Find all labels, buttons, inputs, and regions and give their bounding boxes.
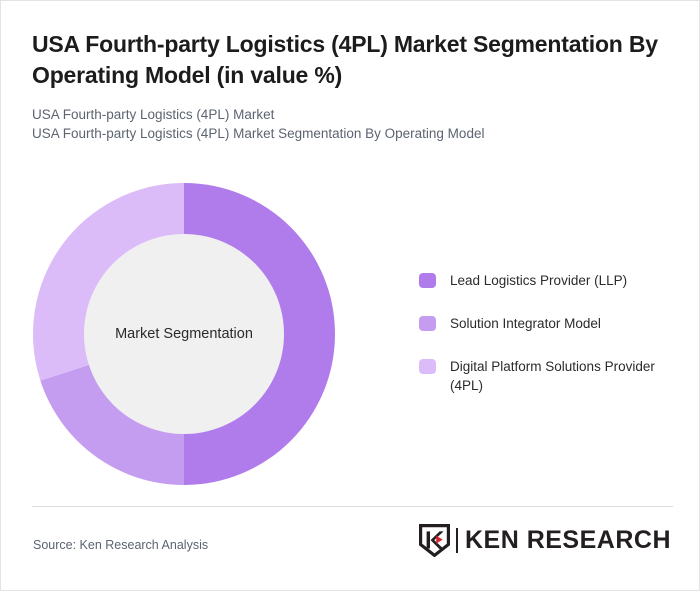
- legend-item-label: Lead Logistics Provider (LLP): [450, 271, 627, 290]
- page-title: USA Fourth-party Logistics (4PL) Market …: [32, 29, 662, 91]
- chart-legend: Lead Logistics Provider (LLP) Solution I…: [419, 271, 669, 395]
- legend-swatch-icon: [419, 359, 436, 374]
- logo-separator: [456, 528, 458, 553]
- subtitle-line-2: USA Fourth-party Logistics (4PL) Market …: [32, 124, 662, 143]
- logo-wordmark: KEN RESEARCH: [465, 528, 671, 553]
- legend-swatch-icon: [419, 273, 436, 288]
- ken-research-shield-k-icon: [419, 524, 450, 557]
- legend-swatch-icon: [419, 316, 436, 331]
- donut-chart-svg: [33, 183, 335, 485]
- footer-divider: [32, 506, 673, 507]
- legend-item-lead-logistics-provider[interactable]: Lead Logistics Provider (LLP): [419, 271, 669, 290]
- chart-header: USA Fourth-party Logistics (4PL) Market …: [32, 29, 662, 143]
- legend-item-solution-integrator-model[interactable]: Solution Integrator Model: [419, 314, 669, 333]
- legend-item-label: Digital Platform Solutions Provider (4PL…: [450, 357, 655, 395]
- donut-inner-circle: [84, 234, 284, 434]
- legend-item-label: Solution Integrator Model: [450, 314, 601, 333]
- subtitle-line-1: USA Fourth-party Logistics (4PL) Market: [32, 105, 662, 124]
- ken-research-logo: KEN RESEARCH: [419, 522, 671, 558]
- source-note: Source: Ken Research Analysis: [33, 538, 208, 552]
- legend-item-digital-platform-solutions-provider[interactable]: Digital Platform Solutions Provider (4PL…: [419, 357, 669, 395]
- subtitle-group: USA Fourth-party Logistics (4PL) Market …: [32, 105, 662, 143]
- chart-card: USA Fourth-party Logistics (4PL) Market …: [0, 0, 700, 591]
- donut-chart: Market Segmentation: [33, 183, 335, 485]
